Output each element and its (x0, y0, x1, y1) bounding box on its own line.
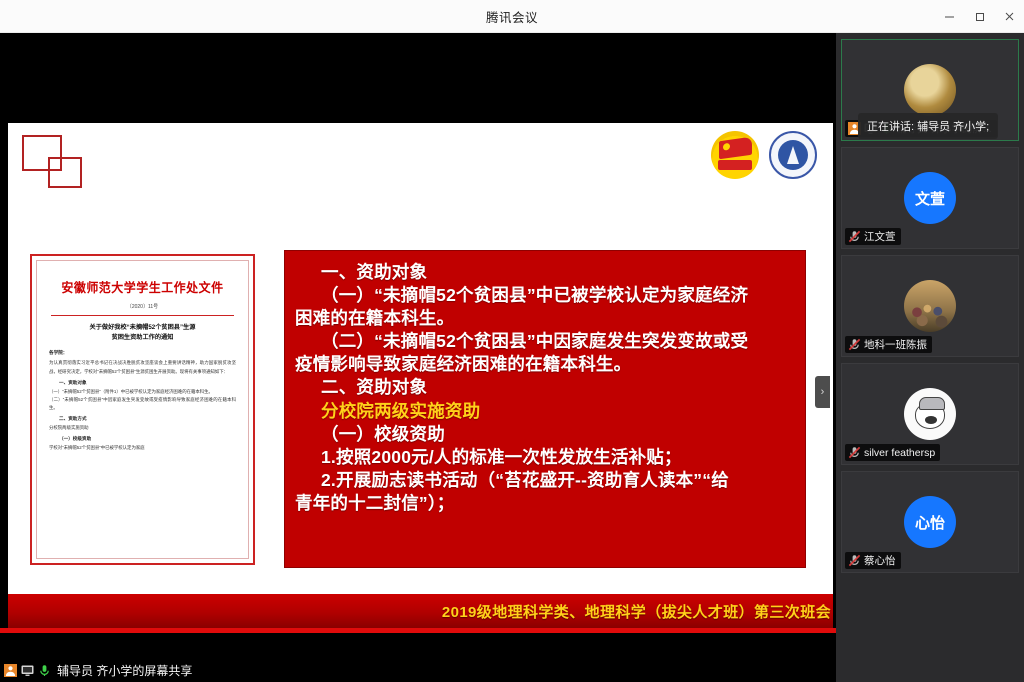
close-icon[interactable] (994, 0, 1024, 33)
slide-logos (711, 131, 817, 179)
avatar (904, 280, 956, 332)
document-section-heading: 一、资助对象 (49, 380, 236, 386)
slide-content-panel: 一、资助对象 （一）“未摘帽52个贫困县”中已被学校认定为家庭经济 困难的在籍本… (284, 250, 806, 568)
document-section-item: 分校院两级实施资助 (49, 424, 236, 432)
document-section-heading: （一）校级资助 (49, 436, 236, 442)
official-document-image: 安徽师范大学学生工作处文件 〔2020〕11号 关于做好我校“未摘帽52个贫困县… (30, 254, 255, 565)
panel-line: 困难的在籍本科生。 (295, 307, 797, 330)
document-subtitle-line2: 贫困生资助工作的通知 (49, 333, 236, 343)
document-salutation: 各学院： (49, 350, 236, 356)
presentation-slide: 安徽师范大学学生工作处文件 〔2020〕11号 关于做好我校“未摘帽52个贫困县… (8, 123, 833, 628)
participant-tile[interactable]: silver feathersp (841, 363, 1019, 465)
panel-line: 二、资助对象 (295, 376, 797, 399)
avatar: 文萱 (904, 172, 956, 224)
participant-name-bar: silver feathersp (845, 444, 940, 461)
panel-line: （二）“未摘帽52个贫困县”中因家庭发生突发变故或受 (295, 330, 797, 353)
participant-name-bar: 蔡心怡 (845, 552, 901, 569)
window-controls (934, 0, 1024, 33)
panel-line: 一、资助对象 (295, 261, 797, 284)
participant-tile[interactable]: 文萱 江文萱 (841, 147, 1019, 249)
participant-name: 地科一班陈振 (864, 337, 927, 352)
screen-share-status-text: 辅导员 齐小学的屏幕共享 (57, 662, 192, 679)
document-section-heading: 二、资助方式 (49, 416, 236, 422)
overlapping-squares-icon (22, 135, 84, 191)
avatar (904, 64, 956, 116)
slide-bottom-strip (0, 628, 836, 633)
document-number: 〔2020〕11号 (49, 303, 236, 310)
document-section-item: 学校对“未摘帽52个贫困县”中已被学校认定为家庭 (49, 444, 236, 452)
document-section-item: （二）“未摘帽52个贫困县”中因家庭发生突发变故或受疫情影响导致家庭经济困难的在… (49, 396, 236, 412)
panel-line: 青年的十二封信”）； (295, 492, 797, 515)
app-body: 安徽师范大学学生工作处文件 〔2020〕11号 关于做好我校“未摘帽52个贫困县… (0, 33, 1024, 682)
app-title: 腾讯会议 (486, 7, 538, 26)
participant-sidebar[interactable]: 正在讲话: 辅导员 齐小学; 辅导员 齐小学的屏... 文萱 (836, 33, 1024, 682)
window-title-bar: 腾讯会议 (0, 0, 1024, 33)
participant-name-bar: 地科一班陈振 (845, 336, 932, 353)
mic-off-icon (848, 338, 861, 351)
document-title: 安徽师范大学学生工作处文件 (53, 277, 233, 296)
mic-off-icon (848, 554, 861, 567)
speaking-indicator: 正在讲话: 辅导员 齐小学; (858, 113, 998, 139)
shared-screen-stage: 安徽师范大学学生工作处文件 〔2020〕11号 关于做好我校“未摘帽52个贫困县… (0, 33, 836, 659)
mic-on-icon (38, 664, 51, 677)
participant-name-bar: 江文萱 (845, 228, 901, 245)
panel-line: 1.按照2000元/人的标准一次性发放生活补贴； (295, 446, 797, 469)
minimize-icon[interactable] (934, 0, 964, 33)
mic-off-icon (848, 446, 861, 459)
document-subtitle-line1: 关于做好我校“未摘帽52个贫困县”生源 (49, 323, 236, 333)
host-icon (4, 664, 17, 677)
avatar (904, 388, 956, 440)
slide-banner-text: 2019级地理科学类、地理科学（拔尖人才班）第三次班会 (442, 601, 831, 622)
participant-tile[interactable]: 心怡 蔡心怡 (841, 471, 1019, 573)
avatar: 心怡 (904, 496, 956, 548)
document-section-item: （一）“未摘帽52个贫困县”（附件1）中已被学校认定为家庭经济困难的在籍本科生。 (49, 388, 236, 396)
screen-share-icon (21, 664, 34, 677)
collapse-panel-chevron-right-icon[interactable]: › (815, 376, 830, 408)
anhui-normal-university-logo (769, 131, 817, 179)
mic-off-icon (848, 230, 861, 243)
screen-share-status-bar: 辅导员 齐小学的屏幕共享 (0, 659, 836, 682)
participant-tile[interactable]: 地科一班陈振 (841, 255, 1019, 357)
participant-name: silver feathersp (864, 447, 935, 459)
panel-line: 疫情影响导致家庭经济困难的在籍本科生。 (295, 353, 797, 376)
maximize-icon[interactable] (964, 0, 994, 33)
slide-banner: 2019级地理科学类、地理科学（拔尖人才班）第三次班会 (8, 594, 833, 628)
panel-line: （一）“未摘帽52个贫困县”中已被学校认定为家庭经济 (295, 284, 797, 307)
document-body: 为认真贯彻落实习近平总书记在决战决胜脱贫攻坚座谈会上重要讲话精神，助力国家脱贫攻… (49, 359, 236, 375)
panel-line: 2.开展励志读书活动（“苔花盛开--资助育人读本”“给 (295, 469, 797, 492)
participant-name: 蔡心怡 (864, 553, 896, 568)
panel-line: （一）校级资助 (295, 423, 797, 446)
communist-youth-league-logo (711, 131, 759, 179)
panel-line-highlight: 分校院两级实施资助 (295, 400, 797, 423)
participant-name: 江文萱 (864, 229, 896, 244)
